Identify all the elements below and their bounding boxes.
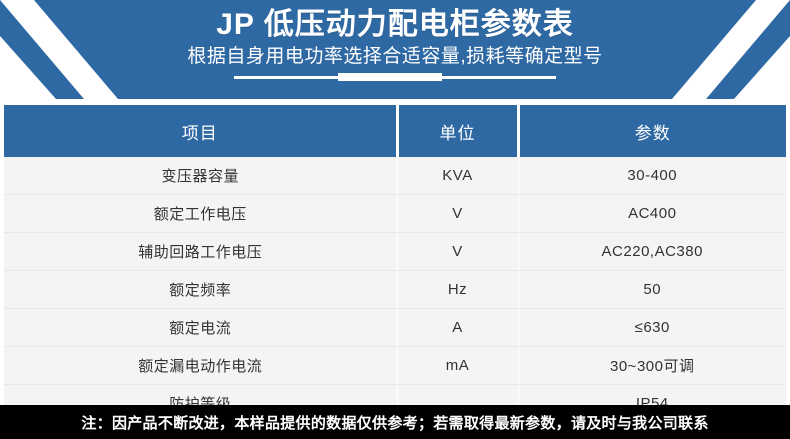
cell-unit: A — [397, 309, 518, 347]
cell-item: 变压器容量 — [4, 157, 397, 195]
cell-unit: V — [397, 233, 518, 271]
cell-param: AC220,AC380 — [518, 233, 786, 271]
column-header-unit: 单位 — [397, 105, 518, 157]
table-header-row: 项目 单位 参数 — [4, 105, 786, 157]
cell-unit: V — [397, 195, 518, 233]
spec-table-container: 项目 单位 参数 变压器容量 KVA 30-400 额定工作电压 V AC400… — [0, 99, 790, 405]
spec-sheet-page: JP 低压动力配电柜参数表 根据自身用电功率选择合适容量,损耗等确定型号 项目 … — [0, 0, 790, 439]
cell-item: 额定工作电压 — [4, 195, 397, 233]
cell-item: 辅助回路工作电压 — [4, 233, 397, 271]
banner: JP 低压动力配电柜参数表 根据自身用电功率选择合适容量,损耗等确定型号 — [0, 0, 790, 99]
spec-table-head: 项目 单位 参数 — [4, 105, 786, 157]
cell-unit: mA — [397, 347, 518, 385]
table-row: 额定频率 Hz 50 — [4, 271, 786, 309]
table-row: 辅助回路工作电压 V AC220,AC380 — [4, 233, 786, 271]
banner-divider — [234, 73, 556, 82]
cell-param: 50 — [518, 271, 786, 309]
table-row: 额定工作电压 V AC400 — [4, 195, 786, 233]
cell-unit: KVA — [397, 157, 518, 195]
banner-content: JP 低压动力配电柜参数表 根据自身用电功率选择合适容量,损耗等确定型号 — [0, 0, 790, 99]
table-row: 额定漏电动作电流 mA 30~300可调 — [4, 347, 786, 385]
column-header-item: 项目 — [4, 105, 397, 157]
cell-param: AC400 — [518, 195, 786, 233]
table-row: 变压器容量 KVA 30-400 — [4, 157, 786, 195]
cell-param: 30-400 — [518, 157, 786, 195]
table-row: 额定电流 A ≤630 — [4, 309, 786, 347]
cell-unit: Hz — [397, 271, 518, 309]
cell-item: 额定电流 — [4, 309, 397, 347]
cell-item: 额定频率 — [4, 271, 397, 309]
cell-item: 额定漏电动作电流 — [4, 347, 397, 385]
cell-param: 30~300可调 — [518, 347, 786, 385]
divider-bar-center — [338, 73, 442, 81]
footer-note: 注：因产品不断改进，本样品提供的数据仅供参考；若需取得最新参数，请及时与我公司联… — [0, 405, 790, 439]
column-header-param: 参数 — [518, 105, 786, 157]
spec-table: 项目 单位 参数 变压器容量 KVA 30-400 额定工作电压 V AC400… — [4, 105, 786, 422]
banner-subtitle: 根据自身用电功率选择合适容量,损耗等确定型号 — [187, 44, 602, 70]
banner-title: JP 低压动力配电柜参数表 — [216, 7, 574, 43]
spec-table-body: 变压器容量 KVA 30-400 额定工作电压 V AC400 辅助回路工作电压… — [4, 157, 786, 422]
cell-param: ≤630 — [518, 309, 786, 347]
